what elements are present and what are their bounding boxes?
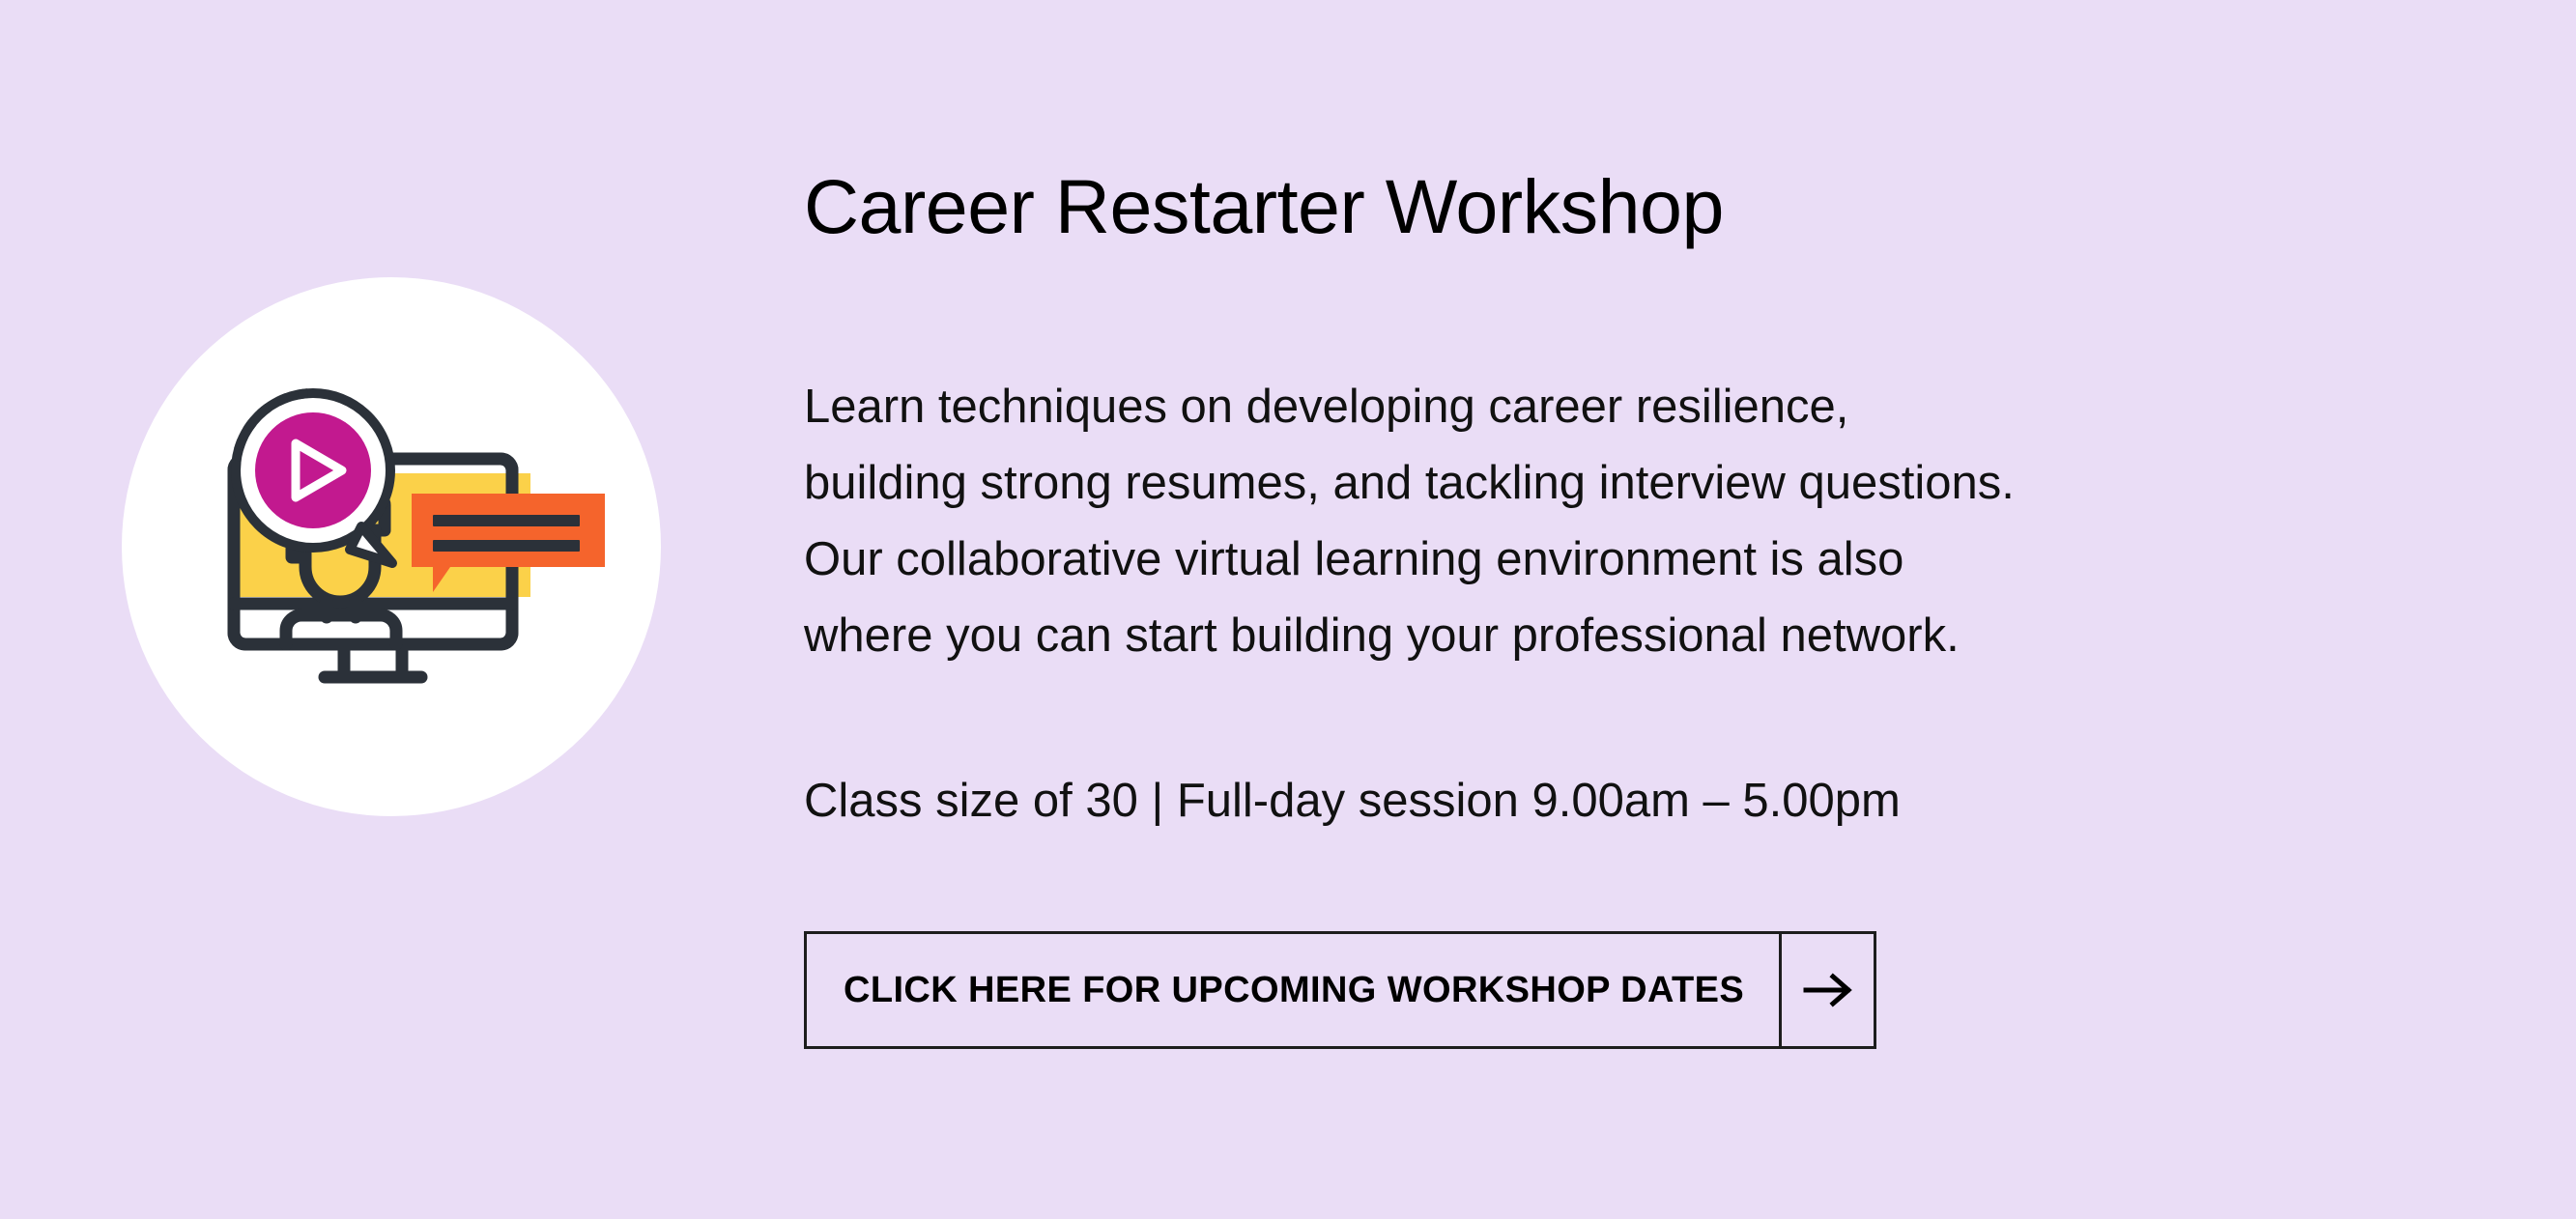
cta-button-label: CLICK HERE FOR UPCOMING WORKSHOP DATES bbox=[807, 934, 1779, 1046]
play-button bbox=[255, 412, 371, 528]
description-line-2: building strong resumes, and tackling in… bbox=[804, 445, 2447, 522]
content-column: Career Restarter Workshop Learn techniqu… bbox=[804, 0, 2466, 1219]
arrow-right-icon bbox=[1779, 934, 1874, 1046]
description-paragraph: Learn techniques on developing career re… bbox=[804, 369, 2447, 674]
virtual-workshop-illustration bbox=[122, 277, 661, 816]
page-title: Career Restarter Workshop bbox=[804, 166, 1724, 247]
description-line-4: where you can start building your profes… bbox=[804, 598, 2447, 674]
description-line-3: Our collaborative virtual learning envir… bbox=[804, 522, 2447, 598]
description-line-1: Learn techniques on developing career re… bbox=[804, 369, 2447, 445]
session-details: Class size of 30 | Full-day session 9.00… bbox=[804, 763, 1901, 839]
promo-card: Career Restarter Workshop Learn techniqu… bbox=[0, 0, 2576, 1219]
upcoming-workshop-dates-button[interactable]: CLICK HERE FOR UPCOMING WORKSHOP DATES bbox=[804, 931, 1876, 1049]
